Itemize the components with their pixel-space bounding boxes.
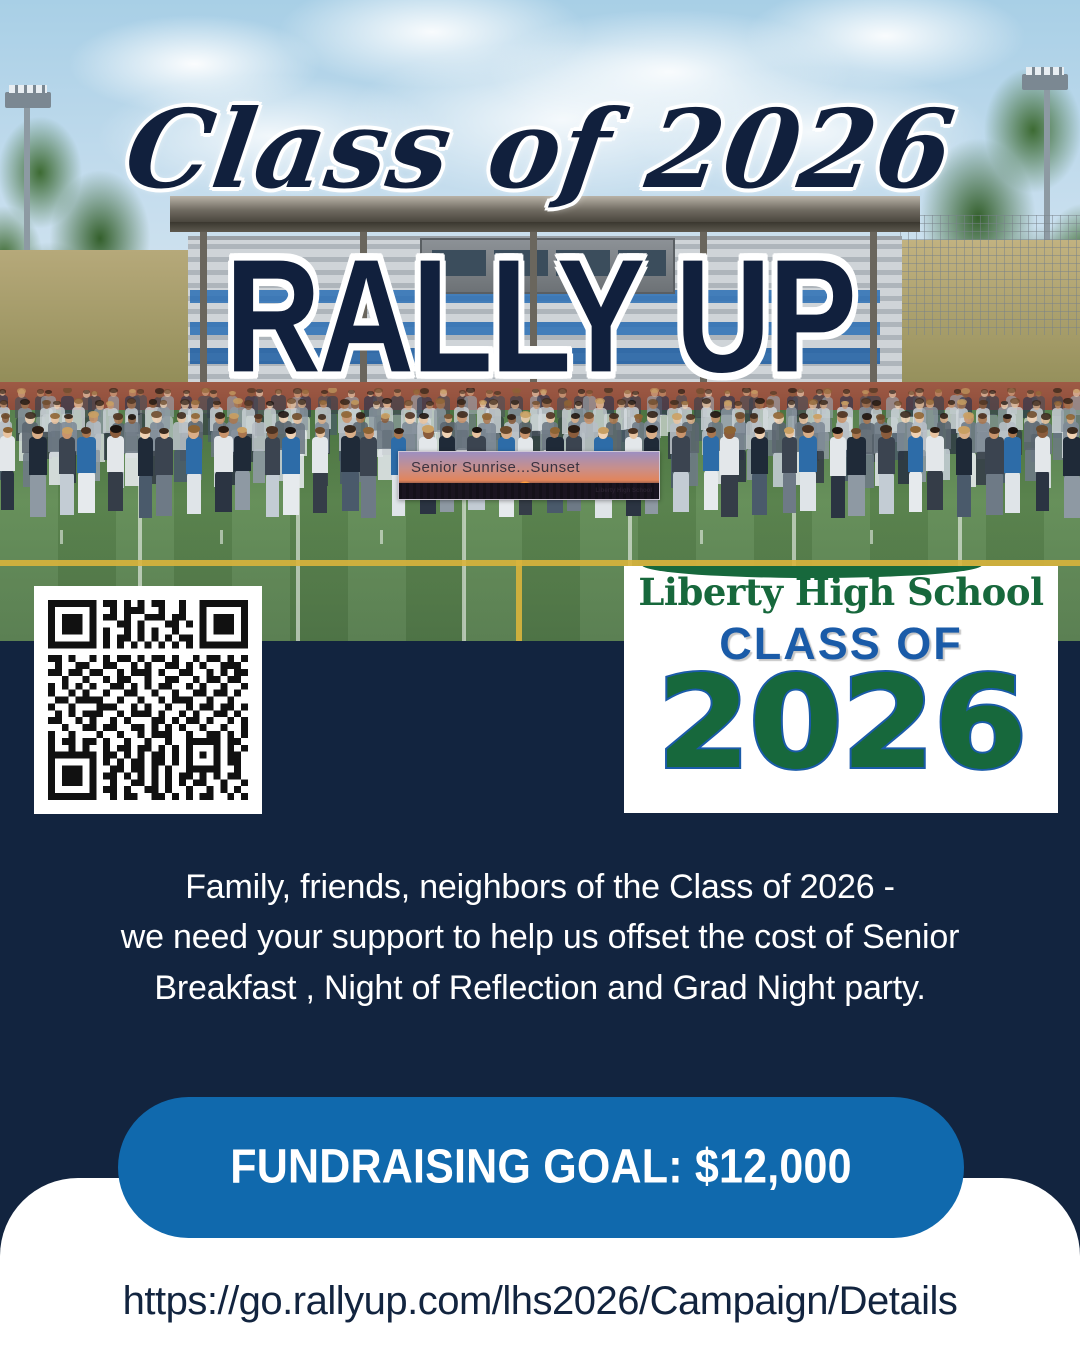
student — [879, 472, 894, 514]
student-hair — [1066, 414, 1075, 420]
student-hair — [872, 400, 881, 406]
student-hair — [724, 426, 736, 434]
student-hair — [110, 425, 122, 433]
student-hair — [42, 400, 51, 406]
student — [125, 451, 139, 486]
student-hair — [278, 411, 289, 418]
student — [985, 437, 1004, 474]
student — [313, 471, 327, 513]
student — [1, 470, 14, 510]
banner-subtitle: Liberty High School — [595, 488, 652, 494]
student-hair — [647, 411, 658, 418]
student — [60, 472, 74, 515]
student — [214, 436, 233, 472]
student — [0, 436, 15, 471]
student — [1064, 474, 1080, 518]
student-hair — [472, 427, 482, 433]
student-hair — [646, 425, 658, 433]
student-hair — [735, 412, 745, 418]
student-hair — [754, 427, 765, 434]
student — [342, 470, 359, 511]
student-hair — [180, 399, 190, 405]
student-hair — [500, 426, 512, 434]
student-hair — [862, 413, 872, 419]
student-hair — [1041, 413, 1051, 419]
student — [673, 471, 689, 512]
student-hair — [914, 412, 924, 418]
student — [956, 437, 972, 475]
student-hair — [802, 425, 814, 433]
student — [235, 470, 250, 510]
student-hair — [419, 413, 429, 419]
student-hair — [948, 400, 956, 405]
student — [783, 471, 796, 513]
student-hair — [1067, 427, 1078, 434]
support-message-line-1: Family, friends, neighbors of the Class … — [60, 862, 1020, 912]
student — [986, 472, 1003, 515]
student — [751, 437, 768, 474]
student-hair — [149, 399, 158, 405]
student-hair — [958, 426, 970, 434]
student-hair — [1008, 427, 1018, 433]
student-hair — [989, 427, 1000, 434]
student — [234, 436, 251, 471]
student — [1004, 437, 1021, 473]
student-hair — [285, 427, 296, 434]
student — [283, 472, 299, 515]
student — [59, 437, 75, 474]
student-hair — [457, 411, 468, 418]
student-hair — [957, 399, 967, 405]
student — [215, 471, 232, 512]
student-hair — [940, 413, 949, 419]
student — [361, 474, 376, 518]
student — [266, 473, 279, 517]
student-hair — [876, 414, 885, 420]
student — [703, 436, 719, 471]
student — [253, 449, 265, 483]
student-hair — [634, 414, 643, 420]
student-hair — [81, 427, 91, 433]
student — [800, 470, 816, 511]
student — [847, 437, 866, 475]
student-hair — [191, 413, 200, 419]
student-hair — [571, 413, 580, 419]
gold-boundary-line — [516, 560, 522, 641]
student-hair — [74, 398, 84, 404]
student-hair — [318, 414, 327, 420]
student-hair — [50, 413, 60, 419]
student-hair — [1010, 398, 1020, 404]
student-hair — [837, 411, 848, 418]
student-hair — [191, 400, 200, 406]
student — [107, 436, 124, 472]
student — [926, 436, 944, 471]
support-message-line-2: we need your support to help us offset t… — [60, 912, 1020, 962]
floodlight-head-right — [1022, 74, 1068, 90]
student — [1063, 437, 1080, 475]
student-hair — [394, 428, 404, 434]
logo-school-name: Liberty High School — [624, 570, 1058, 614]
student-hair — [894, 401, 902, 406]
qr-code[interactable] — [34, 586, 262, 814]
student-hair — [160, 400, 168, 405]
student-hair — [32, 426, 44, 434]
student — [108, 470, 123, 511]
student — [265, 437, 280, 475]
student-hair — [507, 414, 516, 420]
senior-sunrise-banner: Senior Sunrise...Sunset Liberty High Sch… — [398, 451, 660, 500]
student-hair — [344, 425, 356, 433]
student — [360, 437, 377, 475]
student — [78, 471, 95, 513]
student — [139, 474, 152, 518]
student-hair — [266, 426, 278, 434]
student-hair — [1054, 401, 1062, 406]
student — [1035, 436, 1050, 472]
student-hair — [95, 400, 104, 406]
student-hair — [926, 399, 935, 405]
student-hair — [813, 414, 822, 420]
student-hair — [568, 425, 580, 433]
student-hair — [188, 425, 200, 433]
student — [752, 472, 767, 515]
campaign-url[interactable]: https://go.rallyup.com/lhs2026/Campaign/… — [0, 1279, 1080, 1324]
student — [186, 437, 202, 474]
student — [927, 470, 943, 510]
student-hair — [861, 398, 871, 404]
qr-code-image — [48, 600, 248, 800]
support-message-line-3: Breakfast , Night of Reflection and Grad… — [60, 963, 1020, 1013]
student-hair — [1032, 400, 1041, 406]
fundraising-goal-label: FUNDRAISING GOAL: $12,000 — [230, 1140, 851, 1195]
student-hair — [482, 413, 492, 419]
banner-title: Senior Sunrise...Sunset — [411, 459, 580, 476]
student — [282, 437, 300, 474]
student — [312, 437, 328, 473]
student — [29, 437, 47, 475]
fundraising-goal-button[interactable]: FUNDRAISING GOAL: $12,000 — [118, 1097, 964, 1238]
student — [1036, 470, 1049, 511]
student — [1005, 471, 1020, 513]
student-hair — [1, 413, 10, 419]
student — [721, 473, 738, 517]
student-hair — [930, 427, 940, 433]
student-hair — [672, 413, 682, 419]
support-message: Family, friends, neighbors of the Class … — [60, 862, 1020, 1013]
student-hair — [62, 427, 73, 434]
student-hair — [546, 412, 556, 418]
student-hair — [106, 401, 114, 406]
student-hair — [177, 412, 187, 418]
student-hair — [550, 427, 560, 433]
student-hair — [609, 413, 619, 419]
page-title-main: RALLY UP — [0, 236, 1080, 397]
student-hair — [686, 414, 695, 420]
student — [831, 474, 845, 518]
student-hair — [1036, 425, 1048, 433]
student — [957, 473, 971, 517]
student — [30, 473, 46, 517]
student-hair — [128, 414, 137, 420]
student — [341, 436, 360, 472]
student-hair — [25, 412, 36, 419]
student-hair — [292, 413, 302, 419]
student-hair — [20, 399, 30, 405]
student — [720, 437, 739, 475]
student — [138, 437, 153, 475]
student-hair — [213, 401, 221, 406]
student — [782, 437, 797, 473]
student — [252, 422, 266, 451]
student-hair — [0, 400, 8, 405]
student — [704, 470, 718, 510]
logo-year: 2026 — [624, 660, 1058, 788]
student — [672, 436, 690, 472]
student-hair — [750, 413, 759, 419]
student-hair — [88, 411, 99, 418]
student-hair — [113, 413, 123, 419]
student — [848, 473, 865, 516]
student-hair — [53, 401, 61, 406]
flyer-poster: Senior Sunrise...Sunset Liberty High Sch… — [0, 0, 1080, 1350]
student-hair — [442, 426, 453, 433]
student-hair — [979, 400, 988, 406]
student-hair — [229, 413, 239, 419]
student-hair — [520, 427, 531, 434]
student — [156, 473, 172, 516]
student — [77, 437, 96, 473]
student — [799, 436, 817, 472]
student — [908, 436, 923, 472]
page-title-script: Class of 2026 — [0, 96, 1080, 204]
student — [155, 437, 173, 475]
student-hair — [356, 412, 366, 418]
student-hair — [584, 412, 595, 419]
student — [878, 437, 895, 474]
student — [187, 472, 201, 514]
student-hair — [1003, 414, 1012, 420]
student — [830, 437, 846, 475]
school-class-logo: Liberty High School CLASS OF 2026 — [624, 566, 1058, 813]
student-hair — [381, 413, 390, 419]
student — [909, 471, 922, 512]
